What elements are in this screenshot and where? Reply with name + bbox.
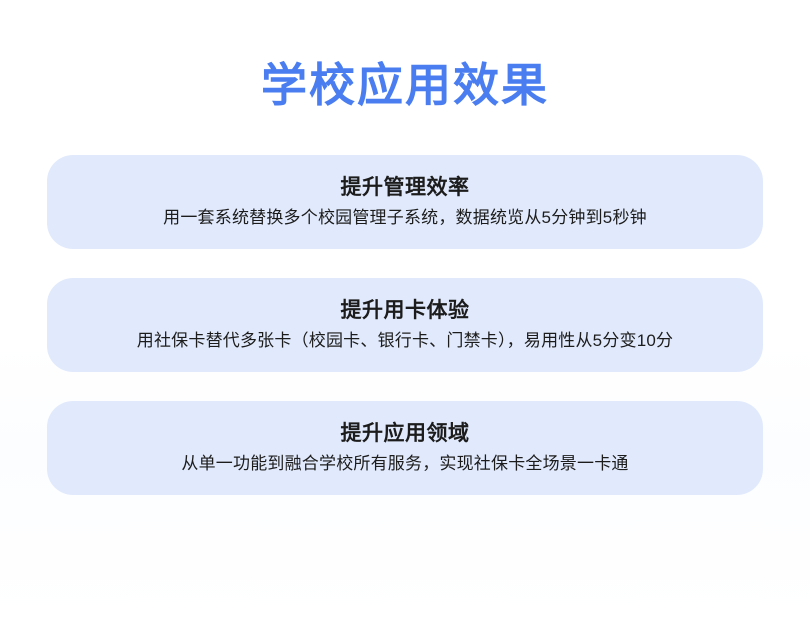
benefit-card-description: 用社保卡替代多张卡（校园卡、银行卡、门禁卡），易用性从5分变10分 [137, 329, 673, 353]
benefit-card-description: 从单一功能到融合学校所有服务，实现社保卡全场景一卡通 [181, 452, 628, 476]
benefit-card: 提升应用领域 从单一功能到融合学校所有服务，实现社保卡全场景一卡通 [47, 401, 763, 495]
page-root: 学校应用效果 提升管理效率 用一套系统替换多个校园管理子系统，数据统览从5分钟到… [0, 0, 810, 622]
benefit-card-list: 提升管理效率 用一套系统替换多个校园管理子系统，数据统览从5分钟到5秒钟 提升用… [47, 155, 763, 495]
benefit-card-description: 用一套系统替换多个校园管理子系统，数据统览从5分钟到5秒钟 [163, 206, 647, 230]
benefit-card-title: 提升管理效率 [341, 174, 470, 202]
page-title: 学校应用效果 [0, 57, 810, 115]
benefit-card-title: 提升用卡体验 [341, 297, 470, 325]
benefit-card: 提升用卡体验 用社保卡替代多张卡（校园卡、银行卡、门禁卡），易用性从5分变10分 [47, 278, 763, 372]
benefit-card-title: 提升应用领域 [341, 420, 470, 448]
benefit-card: 提升管理效率 用一套系统替换多个校园管理子系统，数据统览从5分钟到5秒钟 [47, 155, 763, 249]
